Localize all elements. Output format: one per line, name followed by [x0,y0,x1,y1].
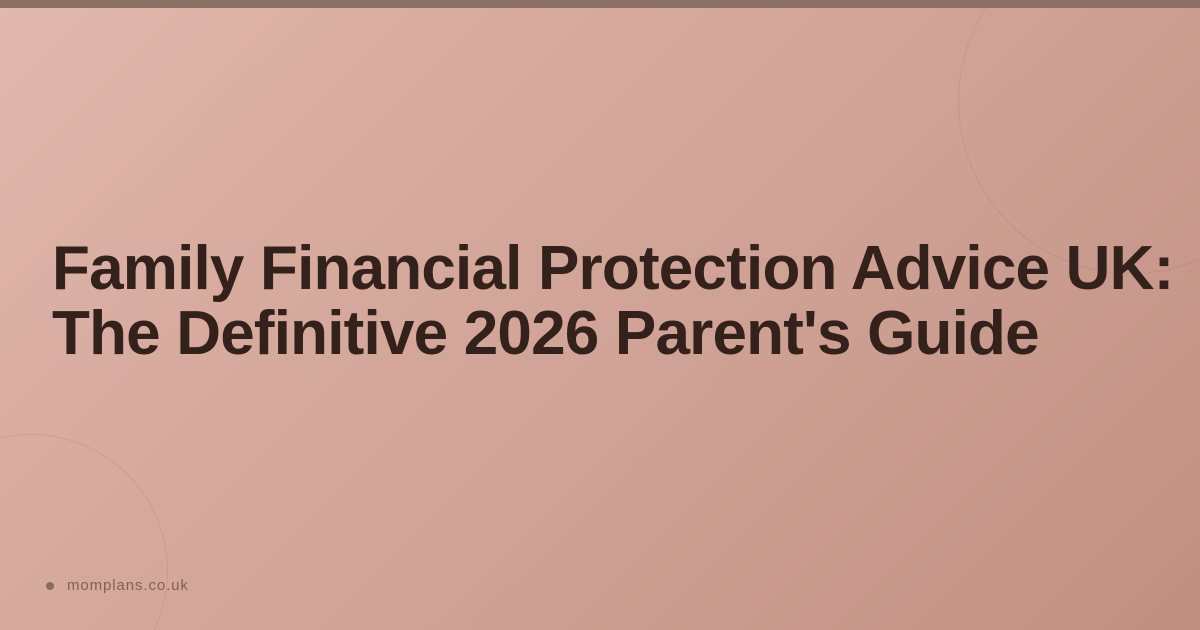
page-title: Family Financial Protection Advice UK: T… [52,236,1142,366]
circle-outline-top-right-icon [958,0,1200,274]
top-accent-bar [0,0,1200,8]
dot-icon [46,582,54,590]
footer-branding: momplans.co.uk [46,577,189,594]
site-name: momplans.co.uk [67,577,189,594]
page-title-line-2: The Definitive 2026 Parent's Guide [52,301,1142,366]
social-share-card: Family Financial Protection Advice UK: T… [0,0,1200,630]
page-title-line-1: Family Financial Protection Advice UK: [52,236,1142,301]
circle-outline-bottom-left-icon [0,434,168,630]
